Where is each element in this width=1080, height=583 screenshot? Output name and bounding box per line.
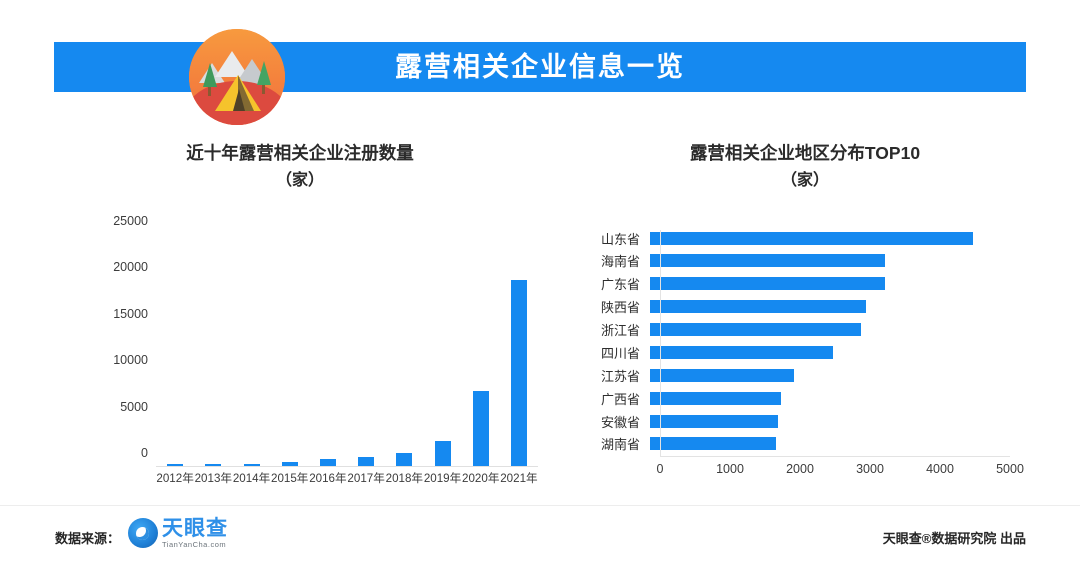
bar-slot [347, 235, 385, 466]
x-axis-tick-labels: 010002000300040005000 [660, 462, 1010, 480]
category-label-四川省: 四川省 [582, 343, 650, 362]
bar-slot [385, 235, 423, 466]
x-axis-line [156, 466, 538, 467]
bar-slot [309, 235, 347, 466]
brand-name-en: TianYanCha.com [162, 541, 228, 549]
bar-广东省 [650, 277, 885, 290]
bar-track [650, 232, 1000, 245]
right-chart-title: 露营相关企业地区分布TOP10 （家） [560, 140, 1050, 194]
y-axis-tick-label: 5000 [120, 400, 148, 414]
bar-湖南省 [650, 437, 776, 450]
footer-divider [0, 505, 1080, 506]
bar-广西省 [650, 392, 781, 405]
icon-tree-trunk-right [262, 84, 265, 94]
bar-2021年 [511, 280, 527, 466]
bar-浙江省 [650, 323, 861, 336]
bar-2014年 [244, 464, 260, 466]
bar-track [650, 346, 1000, 359]
bar-2015年 [282, 462, 298, 466]
left-chart-unit: （家） [40, 167, 560, 194]
left-chart-title-text: 近十年露营相关企业注册数量 [186, 143, 414, 163]
bar-slot [271, 235, 309, 466]
category-label-广东省: 广东省 [582, 274, 650, 293]
bar-四川省 [650, 346, 833, 359]
chart-row: 湖南省 [582, 436, 1022, 452]
bar-slot [194, 235, 232, 466]
source-label: 数据来源： [55, 528, 120, 547]
eye-icon [128, 518, 158, 548]
x-axis-tick-label: 0 [657, 462, 664, 476]
bar-安徽省 [650, 415, 778, 428]
brand-name-cn: 天眼查 [162, 518, 228, 539]
x-axis-tick-label: 2000 [786, 462, 814, 476]
chart-row: 江苏省 [582, 367, 1022, 383]
bar-2016年 [320, 459, 336, 466]
bar-slot [462, 235, 500, 466]
x-axis-tick-label: 2017年 [347, 470, 385, 486]
bar-slot [423, 235, 461, 466]
bar-track [650, 369, 1000, 382]
x-axis-line [660, 456, 1010, 457]
category-label-陕西省: 陕西省 [582, 297, 650, 316]
y-axis-tick-label: 10000 [113, 353, 148, 367]
left-chart-panel: 近十年露营相关企业注册数量 （家） 0500010000150002000025… [40, 140, 560, 500]
x-axis-tick-label: 2021年 [500, 470, 538, 486]
x-axis-tick-label: 3000 [856, 462, 884, 476]
x-axis-tick-label: 2018年 [385, 470, 423, 486]
bar-track [650, 392, 1000, 405]
vertical-plot-area: 0500010000150002000025000 [156, 235, 538, 467]
category-label-海南省: 海南省 [582, 251, 650, 270]
right-chart-unit: （家） [560, 167, 1050, 194]
brand-wordmark: 天眼查 TianYanCha.com [162, 518, 228, 549]
x-axis-tick-label: 2019年 [423, 470, 461, 486]
y-axis-tick-label: 15000 [113, 307, 148, 321]
chart-row: 陕西省 [582, 299, 1022, 315]
tianyancha-logo: 天眼查 TianYanCha.com [128, 518, 228, 549]
bar-2020年 [473, 391, 489, 466]
x-axis-tick-label: 2014年 [232, 470, 270, 486]
x-axis-tick-label: 2015年 [271, 470, 309, 486]
y-axis-tick-label: 20000 [113, 260, 148, 274]
y-axis-tick-label: 25000 [113, 214, 148, 228]
x-axis-tick-labels: 2012年2013年2014年2015年2016年2017年2018年2019年… [156, 470, 538, 486]
bar-slot [500, 235, 538, 466]
chart-row: 浙江省 [582, 322, 1022, 338]
horizontal-bar-series: 山东省海南省广东省陕西省浙江省四川省江苏省广西省安徽省湖南省 [582, 230, 1022, 452]
x-axis-tick-label: 4000 [926, 462, 954, 476]
bar-2018年 [396, 453, 412, 466]
left-chart-title: 近十年露营相关企业注册数量 （家） [40, 140, 560, 194]
bar-track [650, 415, 1000, 428]
bar-2019年 [435, 441, 451, 466]
chart-row: 四川省 [582, 344, 1022, 360]
province-top10-chart: 山东省海南省广东省陕西省浙江省四川省江苏省广西省安徽省湖南省 010002000… [582, 230, 1022, 470]
bar-2012年 [167, 464, 183, 466]
bar-slot [156, 235, 194, 466]
x-axis-tick-label: 1000 [716, 462, 744, 476]
icon-tree-trunk-left [208, 86, 211, 96]
bar-山东省 [650, 232, 973, 245]
bar-2013年 [205, 464, 221, 466]
vertical-bar-series [156, 235, 538, 466]
bar-海南省 [650, 254, 885, 267]
icon-tent-door [233, 89, 245, 111]
x-axis-tick-label: 5000 [996, 462, 1024, 476]
x-axis-tick-label: 2016年 [309, 470, 347, 486]
produced-by-label: 天眼查®数据研究院 出品 [883, 528, 1026, 547]
bar-track [650, 277, 1000, 290]
x-axis-tick-label: 2012年 [156, 470, 194, 486]
chart-row: 广东省 [582, 276, 1022, 292]
bar-slot [232, 235, 270, 466]
x-axis-tick-label: 2020年 [462, 470, 500, 486]
y-axis-tick-label: 0 [141, 446, 148, 460]
bar-2017年 [358, 457, 374, 466]
category-label-安徽省: 安徽省 [582, 412, 650, 431]
category-label-浙江省: 浙江省 [582, 320, 650, 339]
chart-row: 山东省 [582, 230, 1022, 246]
chart-row: 海南省 [582, 253, 1022, 269]
bar-陕西省 [650, 300, 866, 313]
chart-row: 广西省 [582, 390, 1022, 406]
chart-row: 安徽省 [582, 413, 1022, 429]
bar-track [650, 437, 1000, 450]
y-axis-line [660, 230, 661, 456]
yearly-registrations-chart: 0500010000150002000025000 [118, 235, 538, 467]
infographic-page: 露营相关企业信息一览 近十年露营相关企业注册数量 （家） 05000100001… [0, 0, 1080, 583]
right-chart-panel: 露营相关企业地区分布TOP10 （家） 山东省海南省广东省陕西省浙江省四川省江苏… [560, 140, 1050, 500]
bar-track [650, 254, 1000, 267]
right-chart-title-text: 露营相关企业地区分布TOP10 [690, 143, 920, 163]
category-label-江苏省: 江苏省 [582, 366, 650, 385]
bar-track [650, 300, 1000, 313]
bar-江苏省 [650, 369, 794, 382]
category-label-山东省: 山东省 [582, 229, 650, 248]
category-label-湖南省: 湖南省 [582, 434, 650, 453]
bar-track [650, 323, 1000, 336]
x-axis-tick-label: 2013年 [194, 470, 232, 486]
camping-tent-icon [189, 29, 285, 125]
category-label-广西省: 广西省 [582, 389, 650, 408]
